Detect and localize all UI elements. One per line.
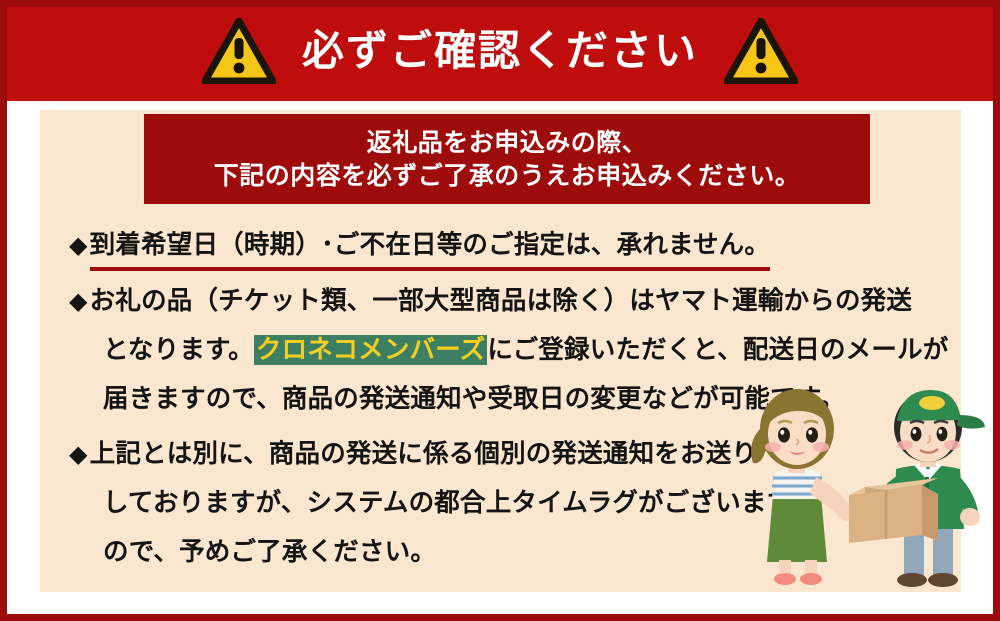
notice-text-segment: となります。 [103,336,254,364]
bullet-diamond-icon: ◆ [69,232,88,259]
notice-line: となります。クロネコメンバーズにご登録いただくと、配送日のメールが [69,326,929,375]
notice-item: ◆到着希望日（時期）･ご不在日等のご指定は、承れません。 [69,221,929,271]
delivery-handover-illustration [726,377,988,592]
banner-header: 必ずご確認ください [0,0,1000,101]
bullet-diamond-icon: ◆ [69,441,88,468]
notice-banner: 必ずご確認ください 返礼品をお申込みの際、 下記の内容を必ずご了承のうえお申込み… [0,0,1000,621]
warning-triangle-icon [724,18,798,84]
notice-text: 上記とは別に、商品の発送に係る個別の発送通知をお送り [90,440,757,468]
notice-text-segment: にご登録いただくと、配送日のメールが [487,336,948,364]
notice-line: ◆到着希望日（時期）･ご不在日等のご指定は、承れません。 [69,221,929,271]
page-title: 必ずご確認ください [302,30,698,72]
bullet-diamond-icon: ◆ [69,288,88,315]
subheader-band: 返礼品をお申込みの際、 下記の内容を必ずご了承のうえお申込みください。 [144,114,870,204]
kuroneko-members-highlight: クロネコメンバーズ [254,335,488,365]
notice-text: 到着希望日（時期）･ご不在日等のご指定は、承れません。 [90,225,770,271]
warning-triangle-icon [202,18,276,84]
subheader-line-2: 下記の内容を必ずご了承のうえお申込みください。 [214,162,801,190]
subheader-line-1: 返礼品をお申込みの際、 [367,129,648,157]
notice-text: お礼の品（チケット類、一部大型商品は除く）はヤマト運輸からの発送 [90,287,912,315]
notice-line: ◆お礼の品（チケット類、一部大型商品は除く）はヤマト運輸からの発送 [69,277,929,326]
